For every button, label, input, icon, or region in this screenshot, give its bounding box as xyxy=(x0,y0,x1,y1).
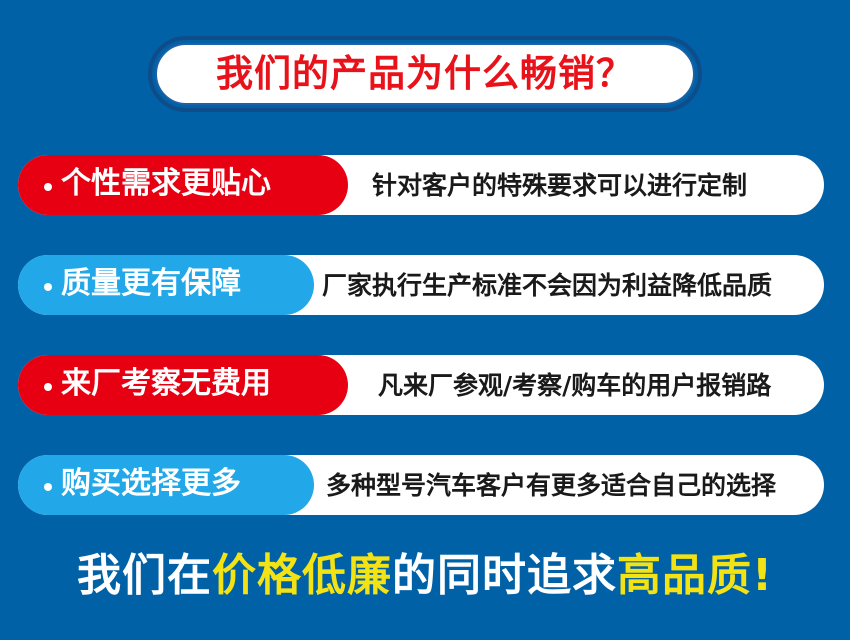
bullet-dot-icon xyxy=(44,183,52,191)
feature-pill: 质量更有保障 xyxy=(18,255,314,315)
bullet-dot-icon xyxy=(44,483,52,491)
feature-description: 多种型号汽车客户有更多适合自己的选择 xyxy=(326,455,776,515)
page-title: 我们的产品为什么畅销？ xyxy=(216,55,634,92)
feature-label: 个性需求更贴心 xyxy=(61,169,271,199)
slogan-segment-3: 的同时追求 xyxy=(392,550,617,601)
feature-row: 多种型号汽车客户有更多适合自己的选择 购买选择更多 xyxy=(18,455,824,515)
bullet-dot-icon xyxy=(44,283,52,291)
feature-description: 凡来厂参观/考察/购车的用户报销路 xyxy=(378,355,771,415)
feature-pill: 个性需求更贴心 xyxy=(18,155,348,215)
feature-label: 质量更有保障 xyxy=(61,269,241,299)
feature-row: 凡来厂参观/考察/购车的用户报销路 来厂考察无费用 xyxy=(18,355,824,415)
feature-row: 针对客户的特殊要求可以进行定制 个性需求更贴心 xyxy=(18,155,824,215)
promo-banner: 我们的产品为什么畅销？ 针对客户的特殊要求可以进行定制 个性需求更贴心 厂家执行… xyxy=(0,0,850,640)
feature-row: 厂家执行生产标准不会因为利益降低品质 质量更有保障 xyxy=(18,255,824,315)
slogan-segment-2: 价格低廉 xyxy=(212,550,392,601)
feature-pill: 购买选择更多 xyxy=(18,455,314,515)
slogan-segment-1: 我们在 xyxy=(77,550,212,601)
feature-label: 来厂考察无费用 xyxy=(61,369,271,399)
feature-description: 针对客户的特殊要求可以进行定制 xyxy=(372,155,747,215)
bullet-dot-icon xyxy=(44,383,52,391)
feature-label: 购买选择更多 xyxy=(61,469,241,499)
footer-slogan-text: 我们在价格低廉的同时追求高品质! xyxy=(77,554,773,598)
title-capsule: 我们的产品为什么畅销？ xyxy=(148,36,702,112)
footer-slogan: 我们在价格低廉的同时追求高品质! xyxy=(0,542,850,610)
slogan-segment-4: 高品质! xyxy=(617,550,773,601)
title-plate: 我们的产品为什么畅销？ xyxy=(155,43,695,105)
feature-description: 厂家执行生产标准不会因为利益降低品质 xyxy=(322,255,772,315)
feature-pill: 来厂考察无费用 xyxy=(18,355,348,415)
